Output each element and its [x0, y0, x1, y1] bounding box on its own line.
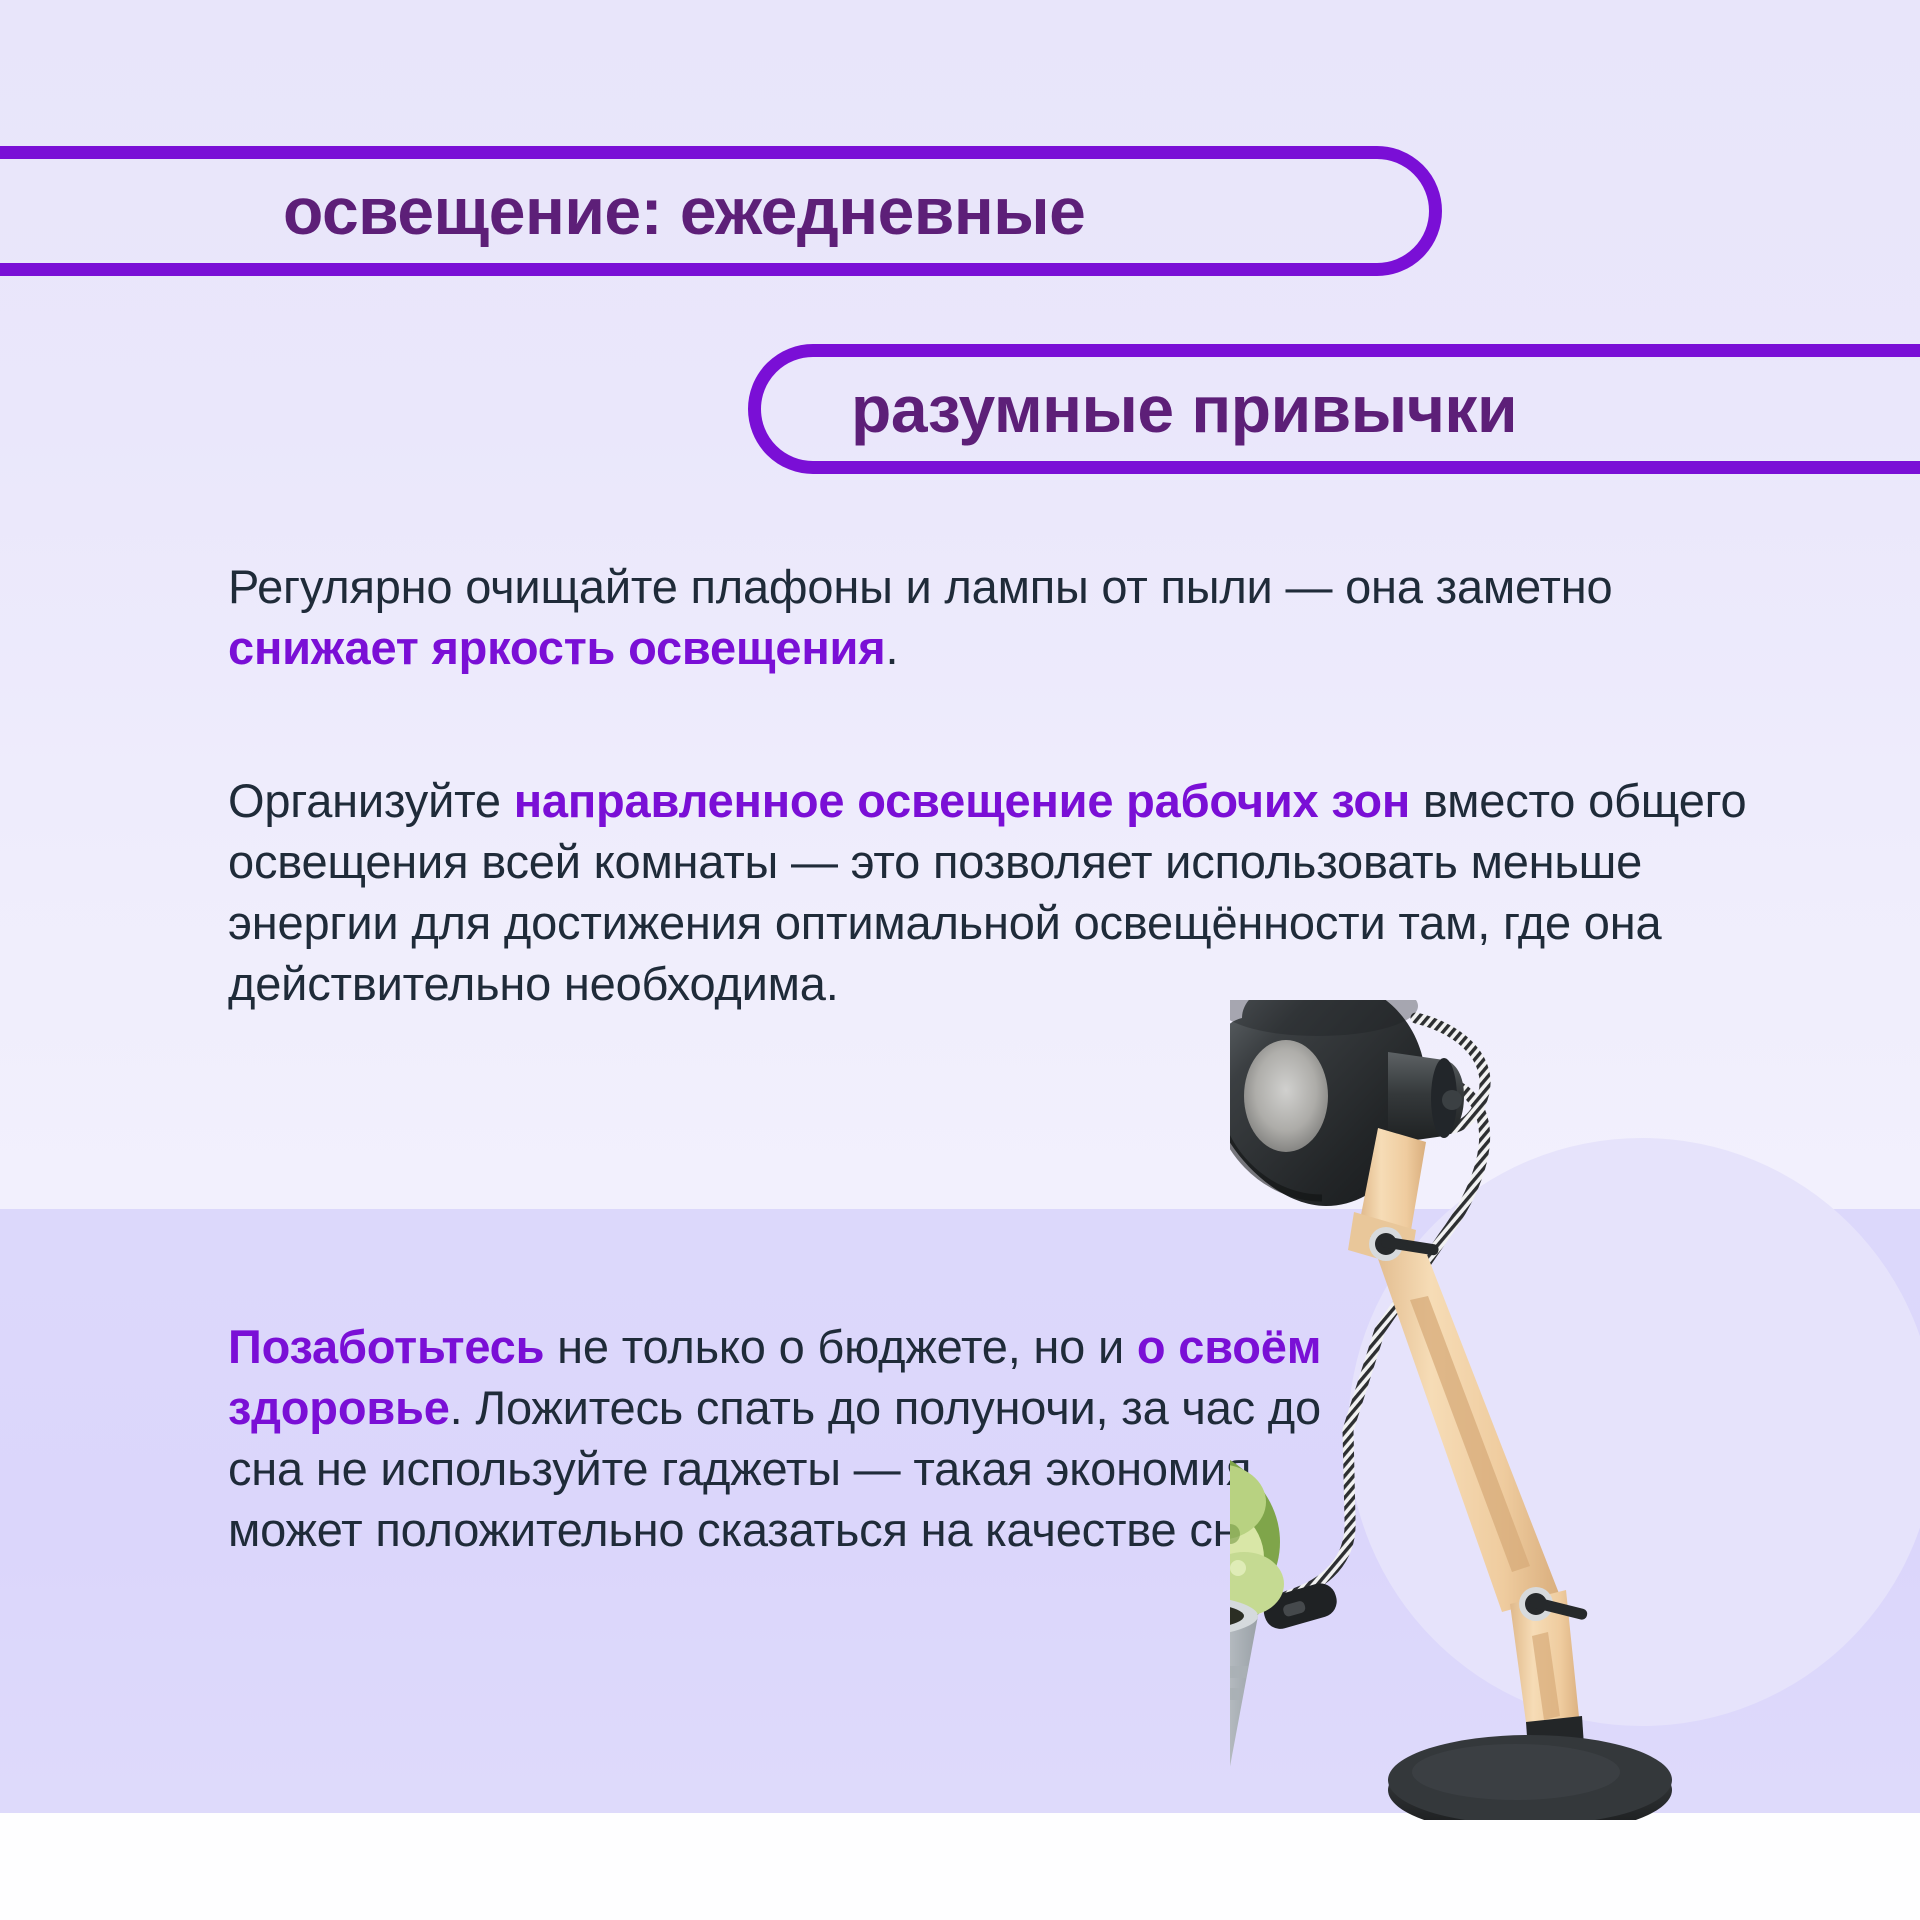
plain-text: не только о бюджете, но и	[544, 1320, 1137, 1373]
headline-pill-primary: освещение: ежедневные	[0, 146, 1442, 276]
emphasis-text: Позаботьтесь	[228, 1320, 544, 1373]
poster-canvas: освещение: ежедневные разумные привычки …	[0, 0, 1920, 1920]
decorative-circle	[1348, 1138, 1920, 1726]
headline-line-1: освещение: ежедневные	[283, 178, 1085, 244]
paragraph-text: Регулярно очищайте плафоны и лампы от пы…	[228, 556, 1788, 678]
background-band-bottom	[0, 1813, 1920, 1920]
paragraph-text: Организуйте направленное освещение рабоч…	[228, 770, 1788, 1014]
emphasis-text: снижает яркость освещения	[228, 621, 885, 674]
plain-text: Регулярно очищайте плафоны и лампы от пы…	[228, 560, 1612, 613]
plain-text: Организуйте	[228, 774, 514, 827]
headline-pill-secondary: разумные привычки	[748, 344, 1920, 474]
emphasis-text: направленное освещение рабочих зон	[514, 774, 1410, 827]
plain-text: .	[885, 621, 898, 674]
paragraph-task-lighting: Организуйте направленное освещение рабоч…	[228, 770, 1788, 1014]
paragraph-text: Позаботьтесь не только о бюджете, но и о…	[228, 1316, 1388, 1560]
paragraph-dust-cleaning: Регулярно очищайте плафоны и лампы от пы…	[228, 556, 1788, 678]
headline-line-2: разумные привычки	[851, 376, 1517, 442]
paragraph-sleep-health: Позаботьтесь не только о бюджете, но и о…	[228, 1316, 1388, 1560]
